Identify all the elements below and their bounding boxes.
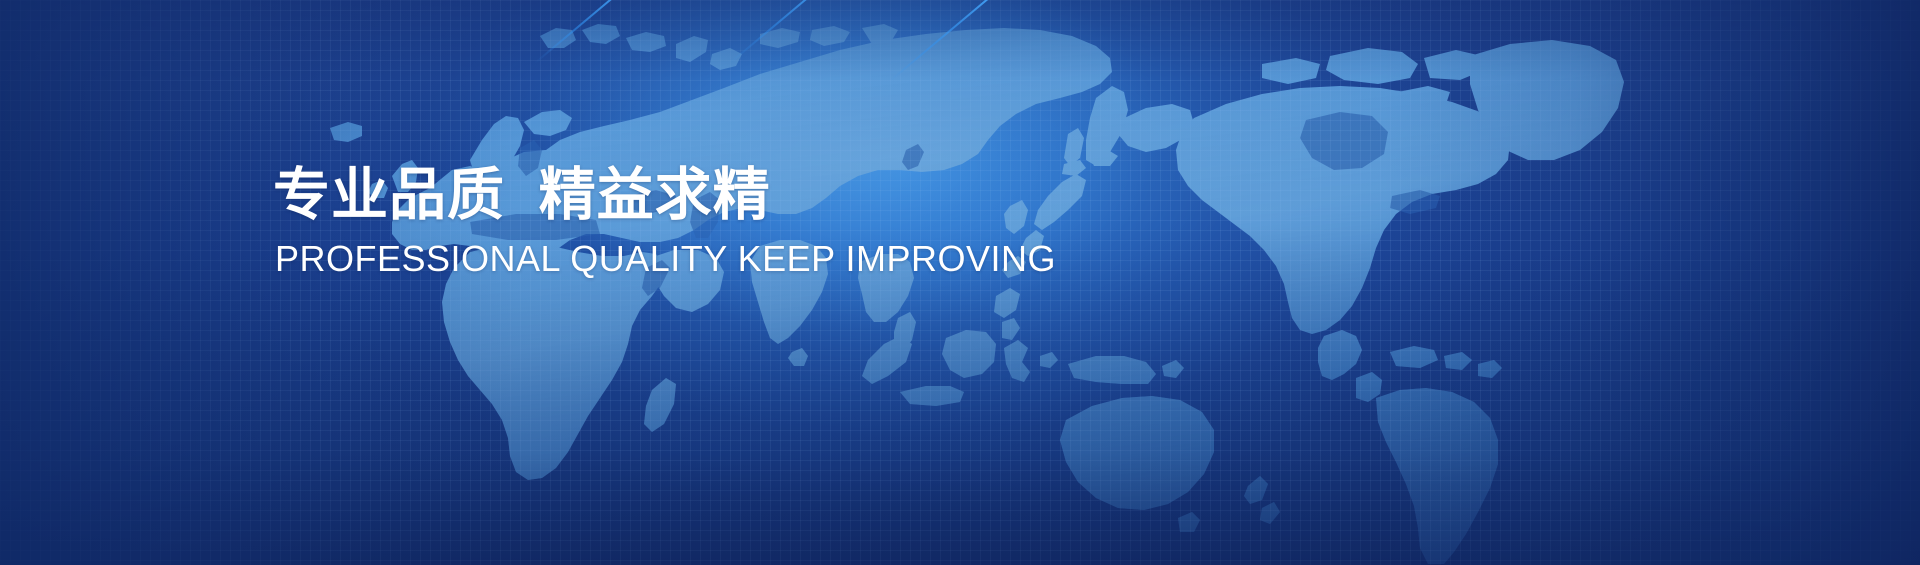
- banner-headline-chinese: 专业品质 精益求精: [273, 160, 1273, 230]
- banner-copy-block: 专业品质 精益求精 PROFESSIONAL QUALITY KEEP IMPR…: [273, 160, 1273, 282]
- background-vignette: [0, 0, 1920, 565]
- hero-banner: 专业品质 精益求精 PROFESSIONAL QUALITY KEEP IMPR…: [0, 0, 1920, 565]
- banner-subheadline-english: PROFESSIONAL QUALITY KEEP IMPROVING: [275, 236, 1273, 282]
